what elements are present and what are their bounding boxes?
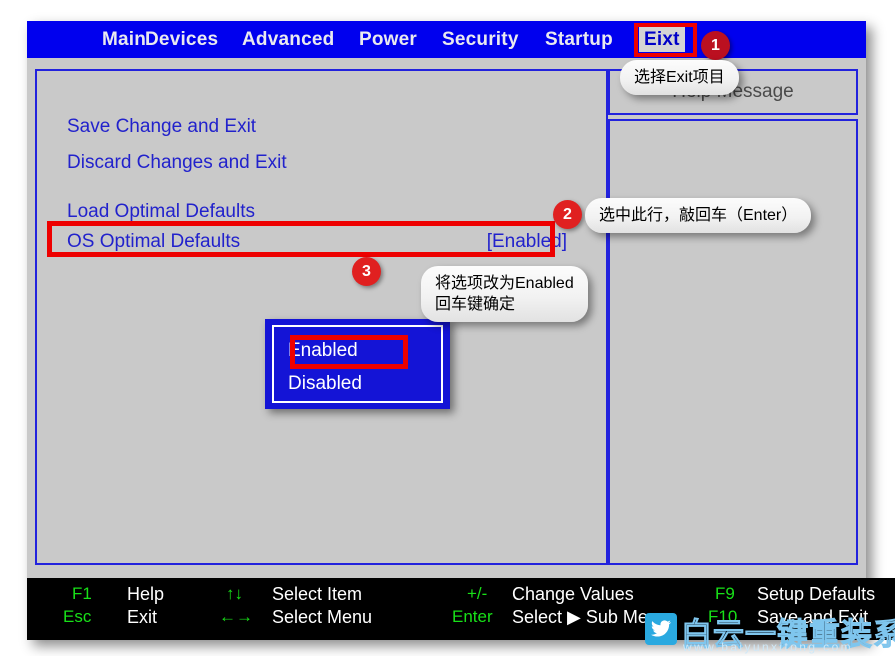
key-esc: Esc (63, 607, 91, 627)
tooltip-press-enter: 选中此行，敲回车（Enter） (585, 198, 811, 233)
key-updown-arrows: ↑↓ (226, 584, 243, 604)
menu-item-power[interactable]: Power (359, 27, 417, 52)
menu-bar: Main Devices Advanced Power Security Sta… (27, 21, 866, 58)
dropdown-selection-highlight-box (290, 335, 408, 369)
option-label: Load Optimal Defaults (67, 201, 255, 222)
bios-screen: Main Devices Advanced Power Security Sta… (27, 21, 866, 640)
key-enter: Enter (452, 607, 493, 627)
menu-item-startup[interactable]: Startup (545, 27, 613, 52)
step-badge-2: 2 (553, 200, 582, 229)
menu-item-security[interactable]: Security (442, 27, 519, 52)
key-plus-minus: +/- (467, 584, 487, 604)
option-label: Save Change and Exit (67, 116, 256, 137)
menu-item-devices[interactable]: Devices (145, 27, 218, 52)
tooltip-change-enabled: 将选项改为Enabled 回车键确定 (421, 266, 588, 322)
watermark-url: www.baiyunxitong.com (683, 640, 853, 654)
menu-item-main[interactable]: Main (102, 27, 146, 52)
option-discard-changes-and-exit[interactable]: Discard Changes and Exit (67, 149, 567, 177)
key-f10: F10 (708, 607, 737, 627)
option-label: Discard Changes and Exit (67, 152, 287, 173)
key-leftright-arrows: ←→ (219, 607, 253, 627)
os-optimal-highlight-box (47, 221, 555, 257)
value-dropdown[interactable]: Enabled Disabled (265, 319, 450, 409)
dropdown-inner-border: Enabled Disabled (272, 325, 443, 403)
key-f1: F1 (72, 584, 92, 604)
help-panel: Help Message (608, 69, 858, 565)
bios-setup-page: Main Devices Advanced Power Security Sta… (0, 0, 895, 656)
key-desc-help: Help (127, 584, 164, 605)
step-badge-3: 3 (352, 257, 381, 286)
key-desc-setup-defaults: Setup Defaults (757, 584, 875, 605)
dropdown-option-disabled[interactable]: Disabled (288, 370, 362, 397)
help-panel-body (608, 119, 858, 565)
key-desc-select-menu: Select Menu (272, 607, 372, 628)
key-desc-save-and-exit: Save and Exit (757, 607, 868, 628)
tooltip-select-exit: 选择Exit项目 (620, 60, 739, 95)
key-desc-change-values: Change Values (512, 584, 634, 605)
key-help-bar: F1 Help Esc Exit ↑↓ Select Item ←→ Selec… (27, 578, 895, 640)
key-f9: F9 (715, 584, 735, 604)
step-badge-1: 1 (701, 31, 730, 60)
key-desc-select-item: Select Item (272, 584, 362, 605)
option-save-change-and-exit[interactable]: Save Change and Exit (67, 113, 567, 141)
key-desc-exit: Exit (127, 607, 157, 628)
key-desc-select-sub-menu: Select ▶ Sub Menu (512, 607, 668, 628)
exit-highlight-box (634, 23, 697, 57)
menu-item-advanced[interactable]: Advanced (242, 27, 334, 52)
